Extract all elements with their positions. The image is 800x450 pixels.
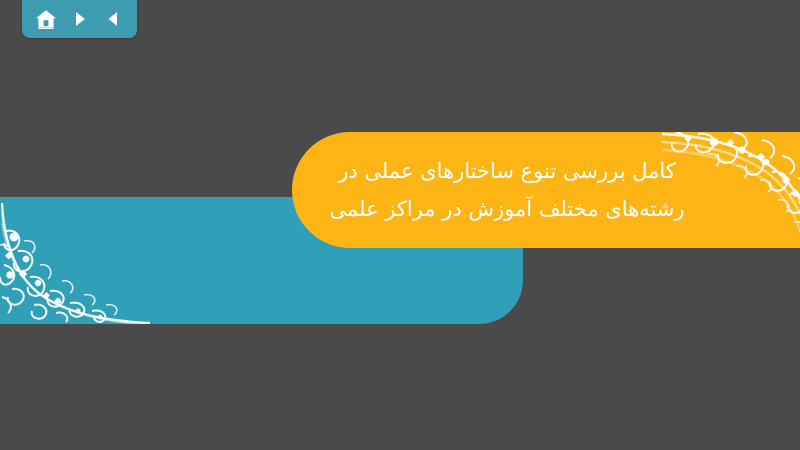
home-icon [35, 9, 57, 30]
home-slide-button[interactable] [32, 6, 60, 32]
previous-slide-button[interactable] [99, 6, 127, 32]
triangle-right-icon [70, 9, 90, 29]
slide-title: کامل بررسی تنوع ساختارهای عملی در رشته‌ه… [292, 152, 800, 228]
next-slide-button[interactable] [66, 6, 94, 32]
triangle-left-icon [103, 9, 123, 29]
arabesque-ornament-teal [0, 197, 150, 324]
presentation-slide: کامل بررسی تنوع ساختارهای عملی در رشته‌ه… [0, 0, 800, 450]
slide-navigation-bar [22, 0, 137, 38]
title-banner: کامل بررسی تنوع ساختارهای عملی در رشته‌ه… [292, 132, 800, 248]
title-line-1: کامل بررسی تنوع ساختارهای عملی در [312, 152, 702, 190]
title-line-2: رشته‌های مختلف آموزش در مراکز علمی [312, 190, 702, 228]
